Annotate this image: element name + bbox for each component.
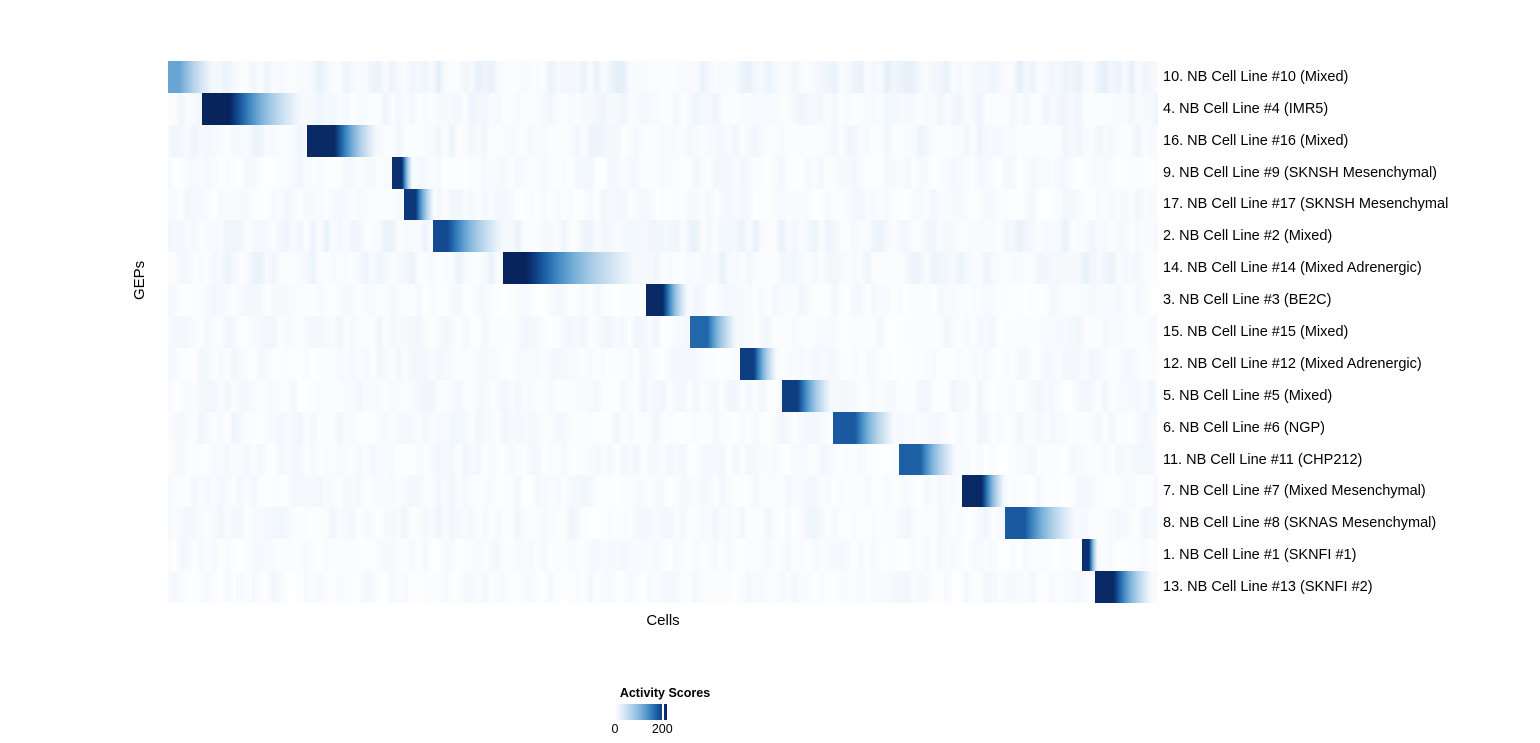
heatmap-row [168, 412, 1158, 444]
row-label: 7. NB Cell Line #7 (Mixed Mesenchymal) [1163, 484, 1426, 499]
heatmap-row [168, 348, 1158, 380]
heatmap-row [168, 125, 1158, 157]
heatmap-row-background [168, 252, 1158, 284]
heatmap-plot-area [168, 61, 1158, 603]
heatmap-row-background [168, 412, 1158, 444]
heatmap-diagonal-block [833, 412, 900, 444]
heatmap-row [168, 316, 1158, 348]
colorbar-tick-label: 200 [652, 722, 673, 736]
heatmap-row [168, 61, 1158, 93]
heatmap-diagonal-block [646, 284, 691, 316]
row-label: 14. NB Cell Line #14 (Mixed Adrenergic) [1163, 261, 1422, 276]
row-label: 17. NB Cell Line #17 (SKNSH Mesenchymal [1163, 197, 1448, 212]
heatmap-row [168, 252, 1158, 284]
heatmap-row-background [168, 61, 1158, 93]
heatmap-diagonal-block [1082, 539, 1099, 571]
row-label-list: 10. NB Cell Line #10 (Mixed)4. NB Cell L… [1163, 61, 1533, 603]
row-label: 10. NB Cell Line #10 (Mixed) [1163, 70, 1348, 85]
colorbar-tick [662, 704, 664, 720]
colorbar-tick-label: 0 [612, 722, 619, 736]
colorbar-title: Activity Scores [560, 686, 770, 700]
heatmap-row [168, 189, 1158, 221]
row-label: 3. NB Cell Line #3 (BE2C) [1163, 293, 1331, 308]
heatmap-diagonal-block [503, 252, 653, 284]
heatmap-row-background [168, 316, 1158, 348]
heatmap-diagonal-block [202, 93, 312, 125]
heatmap-row-background [168, 348, 1158, 380]
heatmap-row [168, 507, 1158, 539]
row-label: 8. NB Cell Line #8 (SKNAS Mesenchymal) [1163, 516, 1436, 531]
heatmap-figure: GEPs Cells 10. NB Cell Line #10 (Mixed)4… [0, 0, 1540, 743]
heatmap-diagonal-block [404, 189, 438, 221]
y-axis-label: GEPs [131, 261, 148, 300]
heatmap-row-background [168, 380, 1158, 412]
row-label: 2. NB Cell Line #2 (Mixed) [1163, 229, 1332, 244]
colorbar-legend: Activity Scores 0200 [560, 686, 800, 743]
row-label: 15. NB Cell Line #15 (Mixed) [1163, 325, 1348, 340]
heatmap-row-background [168, 93, 1158, 125]
heatmap-row-background [168, 189, 1158, 221]
heatmap-row-background [168, 475, 1158, 507]
heatmap-row [168, 380, 1158, 412]
heatmap-diagonal-block [740, 348, 780, 380]
heatmap-row-background [168, 157, 1158, 189]
row-label: 6. NB Cell Line #6 (NGP) [1163, 421, 1325, 436]
heatmap-diagonal-block [899, 444, 962, 476]
heatmap-diagonal-block [307, 125, 384, 157]
heatmap-diagonal-block [433, 220, 512, 252]
heatmap-row [168, 157, 1158, 189]
heatmap-row [168, 539, 1158, 571]
heatmap-row [168, 93, 1158, 125]
row-label: 5. NB Cell Line #5 (Mixed) [1163, 389, 1332, 404]
heatmap-row [168, 475, 1158, 507]
heatmap-row-background [168, 220, 1158, 252]
row-label: 13. NB Cell Line #13 (SKNFI #2) [1163, 580, 1373, 595]
heatmap-row [168, 220, 1158, 252]
heatmap-row-background [168, 444, 1158, 476]
row-label: 9. NB Cell Line #9 (SKNSH Mesenchymal) [1163, 166, 1437, 181]
row-label: 12. NB Cell Line #12 (Mixed Adrenergic) [1163, 357, 1422, 372]
heatmap-diagonal-block [168, 61, 222, 93]
x-axis-label: Cells [168, 612, 1158, 629]
heatmap-row [168, 284, 1158, 316]
heatmap-row [168, 571, 1158, 603]
heatmap-diagonal-block [1005, 507, 1084, 539]
heatmap-row [168, 444, 1158, 476]
heatmap-row-background [168, 571, 1158, 603]
row-label: 4. NB Cell Line #4 (IMR5) [1163, 102, 1328, 117]
heatmap-diagonal-block [782, 380, 837, 412]
heatmap-diagonal-block [690, 316, 742, 348]
heatmap-diagonal-block [392, 157, 414, 189]
heatmap-diagonal-block [962, 475, 1008, 507]
heatmap-row-background [168, 539, 1158, 571]
row-label: 16. NB Cell Line #16 (Mixed) [1163, 134, 1348, 149]
colorbar-gradient [615, 704, 667, 720]
row-label: 11. NB Cell Line #11 (CHP212) [1163, 453, 1362, 468]
row-label: 1. NB Cell Line #1 (SKNFI #1) [1163, 548, 1356, 563]
heatmap-diagonal-block [1095, 571, 1158, 603]
